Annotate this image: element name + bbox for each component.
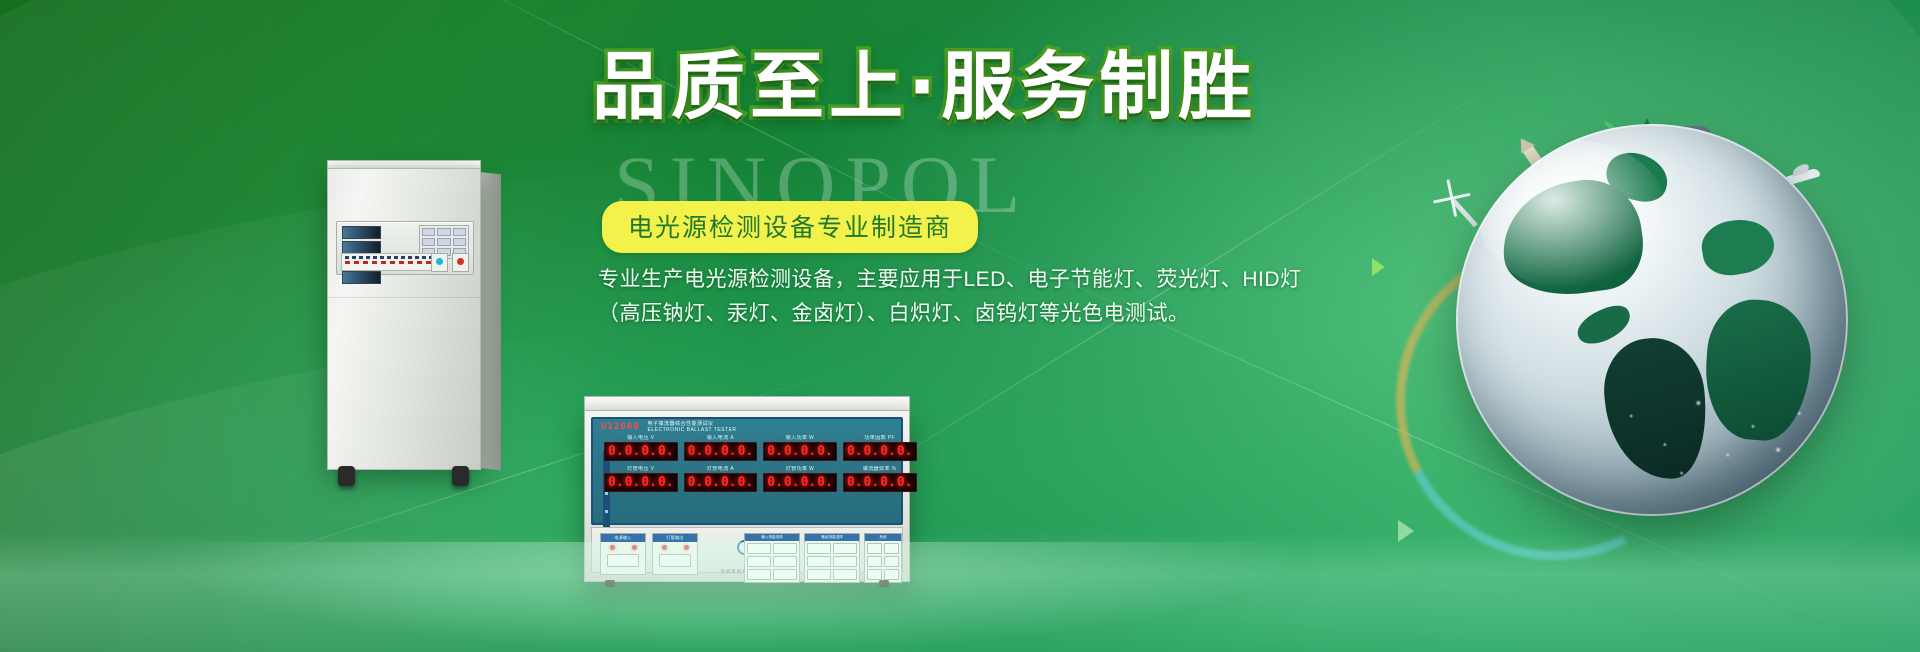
cabinet-indicator-group xyxy=(431,253,469,272)
banner-text-block: 品质至上·服务制胜 SINOPOL 电光源检测设备专业制造商 专业生产电光源检测… xyxy=(592,48,1412,128)
instrument-model-title: 电子镇流器综合性能测试仪 ELECTRONIC BALLAST TESTER xyxy=(648,421,737,434)
cabinet-side-panel xyxy=(479,172,501,470)
meter: 功率因数 PF 0.0.0.0. xyxy=(843,435,917,461)
banner-headline: 品质至上·服务制胜 xyxy=(592,48,1412,128)
meter-caption: 镇流器效率 % xyxy=(843,466,917,473)
meter-caption: 输入功率 W xyxy=(763,435,837,442)
banner-description: 专业生产电光源检测设备，主要应用于LED、电子节能灯、荧光灯、HID灯 （高压钠… xyxy=(598,263,1418,331)
keypad-key[interactable] xyxy=(437,238,450,246)
meter: 镇流器效率 % 0.0.0.0. xyxy=(843,466,917,492)
meter-row-output: 灯管电压 V 0.0.0.0. 灯管电流 A 0.0.0.0. 灯管功率 W xyxy=(598,466,896,492)
globe-sphere xyxy=(1456,124,1848,516)
cabinet-indicator-blue[interactable] xyxy=(431,253,448,272)
meter: 输入电流 A 0.0.0.0. xyxy=(684,435,758,461)
cabinet-caster xyxy=(338,466,355,486)
cabinet-caster xyxy=(452,466,469,486)
floor-glow xyxy=(154,542,1306,652)
cabinet-door-seam xyxy=(328,297,480,298)
globe-rim-light xyxy=(1456,124,1848,516)
keypad-key[interactable] xyxy=(422,228,435,236)
meter-display: 0.0.0.0. xyxy=(763,442,837,461)
instrument-model-number: U12000 xyxy=(601,422,640,432)
meter-caption: 灯管电流 A xyxy=(684,466,758,473)
eco-globe xyxy=(1418,92,1888,562)
meter-caption: 输入电压 V xyxy=(604,435,678,442)
keypad-key[interactable] xyxy=(453,238,466,246)
cabinet-led-window xyxy=(342,226,381,239)
meter-display: 0.0.0.0. xyxy=(684,442,758,461)
keypad-key[interactable] xyxy=(422,238,435,246)
cabinet-control-panel xyxy=(336,221,474,275)
meter-grid: 输入电压 V 0.0.0.0. 输入电流 A 0.0.0.0. 输入功率 W xyxy=(598,435,896,497)
tagline-badge: 电光源检测设备专业制造商 xyxy=(602,201,978,253)
meter: 灯管电压 V 0.0.0.0. xyxy=(604,466,678,492)
meter-row-input: 输入电压 V 0.0.0.0. 输入电流 A 0.0.0.0. 输入功率 W xyxy=(598,435,896,461)
meter-display: 0.0.0.0. xyxy=(604,473,678,492)
cabinet-led-window xyxy=(342,271,381,284)
meter-display: 0.0.0.0. xyxy=(604,442,678,461)
meter: 输入电压 V 0.0.0.0. xyxy=(604,435,678,461)
power-supply-cabinet xyxy=(327,168,481,470)
cabinet-indicator-red[interactable] xyxy=(452,253,469,272)
description-line-2: （高压钠灯、汞灯、金卤灯）、白炽灯、卤钨灯等光色电测试。 xyxy=(598,297,1418,331)
meter-display: 0.0.0.0. xyxy=(763,473,837,492)
meter-rail-left xyxy=(603,451,610,537)
meter-caption: 功率因数 PF xyxy=(843,435,917,442)
meter-caption: 输入电流 A xyxy=(684,435,758,442)
cabinet-label-strip xyxy=(341,253,439,271)
keypad-key[interactable] xyxy=(437,228,450,236)
meter-display: 0.0.0.0. xyxy=(684,473,758,492)
meter-caption: 灯管电压 V xyxy=(604,466,678,473)
promo-banner: U12000 电子镇流器综合性能测试仪 ELECTRONIC BALLAST T… xyxy=(0,0,1920,652)
description-line-1: 专业生产电光源检测设备，主要应用于LED、电子节能灯、荧光灯、HID灯 xyxy=(598,263,1418,297)
keypad-key[interactable] xyxy=(453,228,466,236)
meter: 灯管电流 A 0.0.0.0. xyxy=(684,466,758,492)
meter: 输入功率 W 0.0.0.0. xyxy=(763,435,837,461)
meter-display: 0.0.0.0. xyxy=(843,473,917,492)
meter-caption: 灯管功率 W xyxy=(763,466,837,473)
meter: 灯管功率 W 0.0.0.0. xyxy=(763,466,837,492)
windmill-icon xyxy=(1451,199,1477,228)
meter-display: 0.0.0.0. xyxy=(843,442,917,461)
instrument-model-block: U12000 电子镇流器综合性能测试仪 ELECTRONIC BALLAST T… xyxy=(601,421,737,434)
instrument-front-face: U12000 电子镇流器综合性能测试仪 ELECTRONIC BALLAST T… xyxy=(591,417,903,525)
